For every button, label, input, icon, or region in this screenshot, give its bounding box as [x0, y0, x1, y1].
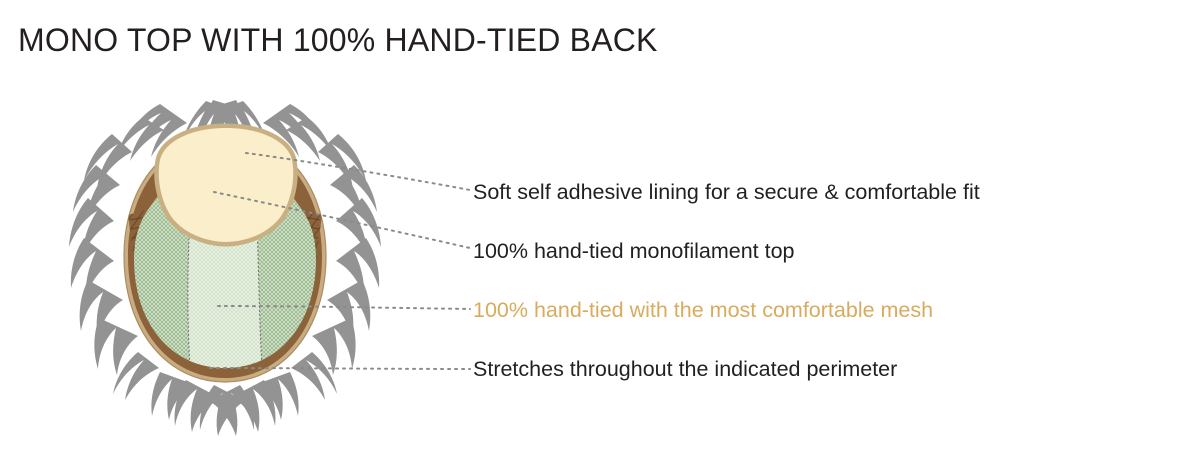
- callout-monofilament-top: 100% hand-tied monofilament top: [473, 241, 795, 263]
- callout-hand-tied-mesh: 100% hand-tied with the most comfortable…: [473, 300, 933, 322]
- wig-cap-infographic: MONO TOP WITH 100% HAND-TIED BACK: [0, 0, 1200, 450]
- wig-cap-diagram: [0, 0, 1200, 450]
- callout-stretch-perimeter: Stretches throughout the indicated perim…: [473, 359, 897, 381]
- mono-top-inner: [159, 128, 293, 242]
- callout-adhesive-lining: Soft self adhesive lining for a secure &…: [473, 182, 980, 204]
